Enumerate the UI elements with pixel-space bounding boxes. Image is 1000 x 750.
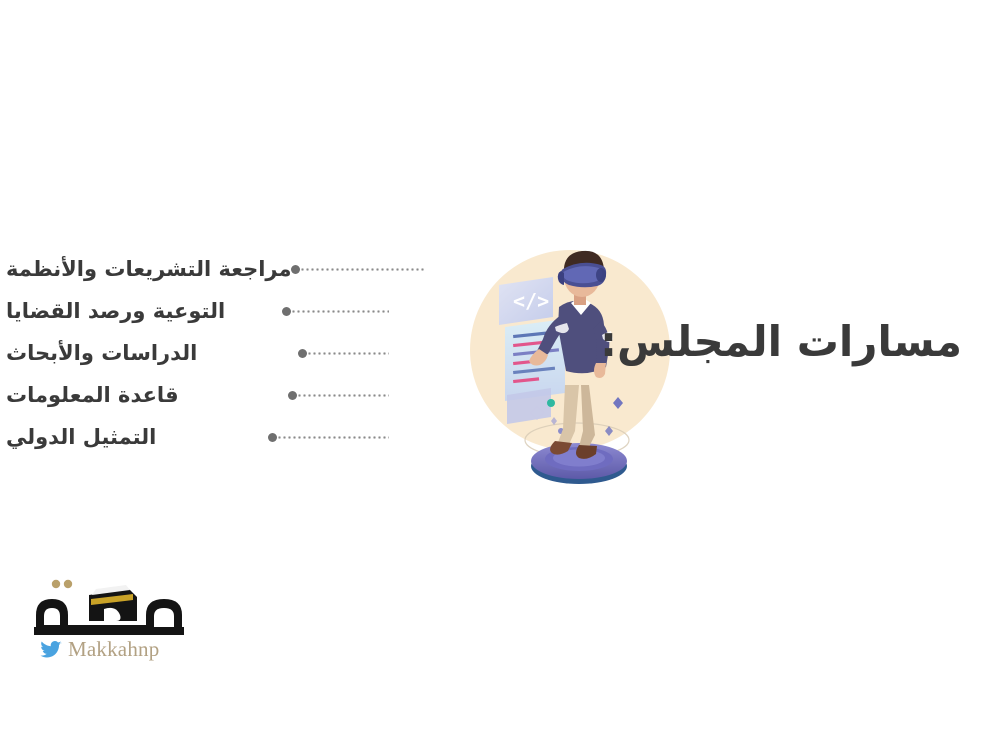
path-label: التمثيل الدولي	[0, 427, 156, 448]
poster-canvas: </>	[0, 0, 1000, 750]
bullet-dot	[291, 265, 300, 274]
path-label: مراجعة التشريعات والأنظمة	[0, 259, 291, 280]
dotted-line	[277, 436, 389, 439]
bullet-dot	[288, 391, 297, 400]
connector	[288, 389, 392, 401]
svg-text:</>: </>	[513, 289, 549, 313]
connector	[298, 347, 392, 359]
connector	[291, 263, 428, 275]
dotted-line	[300, 268, 425, 271]
bullet-dot	[298, 349, 307, 358]
twitter-icon	[40, 641, 62, 659]
logo-dot-left	[52, 580, 60, 588]
path-label: الدراسات والأبحاث	[0, 343, 197, 364]
handle-text: Makkahnp	[68, 639, 159, 660]
logo-dot-right	[64, 580, 72, 588]
list-item: التمثيل الدولي	[0, 416, 392, 458]
list-item: الدراسات والأبحاث	[0, 332, 392, 374]
dotted-line	[291, 310, 389, 313]
dotted-line	[307, 352, 389, 355]
connector	[268, 431, 392, 443]
list-item: قاعدة المعلومات	[0, 374, 392, 416]
page-title: مسارات المجلس:	[542, 318, 962, 366]
council-paths-list: مراجعة التشريعات والأنظمة التوعية ورصد ا…	[0, 248, 392, 458]
makkah-logo	[34, 575, 184, 637]
bullet-dot	[282, 307, 291, 316]
dotted-line	[297, 394, 389, 397]
list-item: مراجعة التشريعات والأنظمة	[0, 248, 392, 290]
brand-block: Makkahnp	[34, 575, 204, 660]
connector	[282, 305, 392, 317]
twitter-handle[interactable]: Makkahnp	[34, 639, 204, 660]
path-label: قاعدة المعلومات	[0, 385, 179, 406]
list-item: التوعية ورصد القضايا	[0, 290, 392, 332]
bullet-dot	[268, 433, 277, 442]
path-label: التوعية ورصد القضايا	[0, 301, 225, 322]
